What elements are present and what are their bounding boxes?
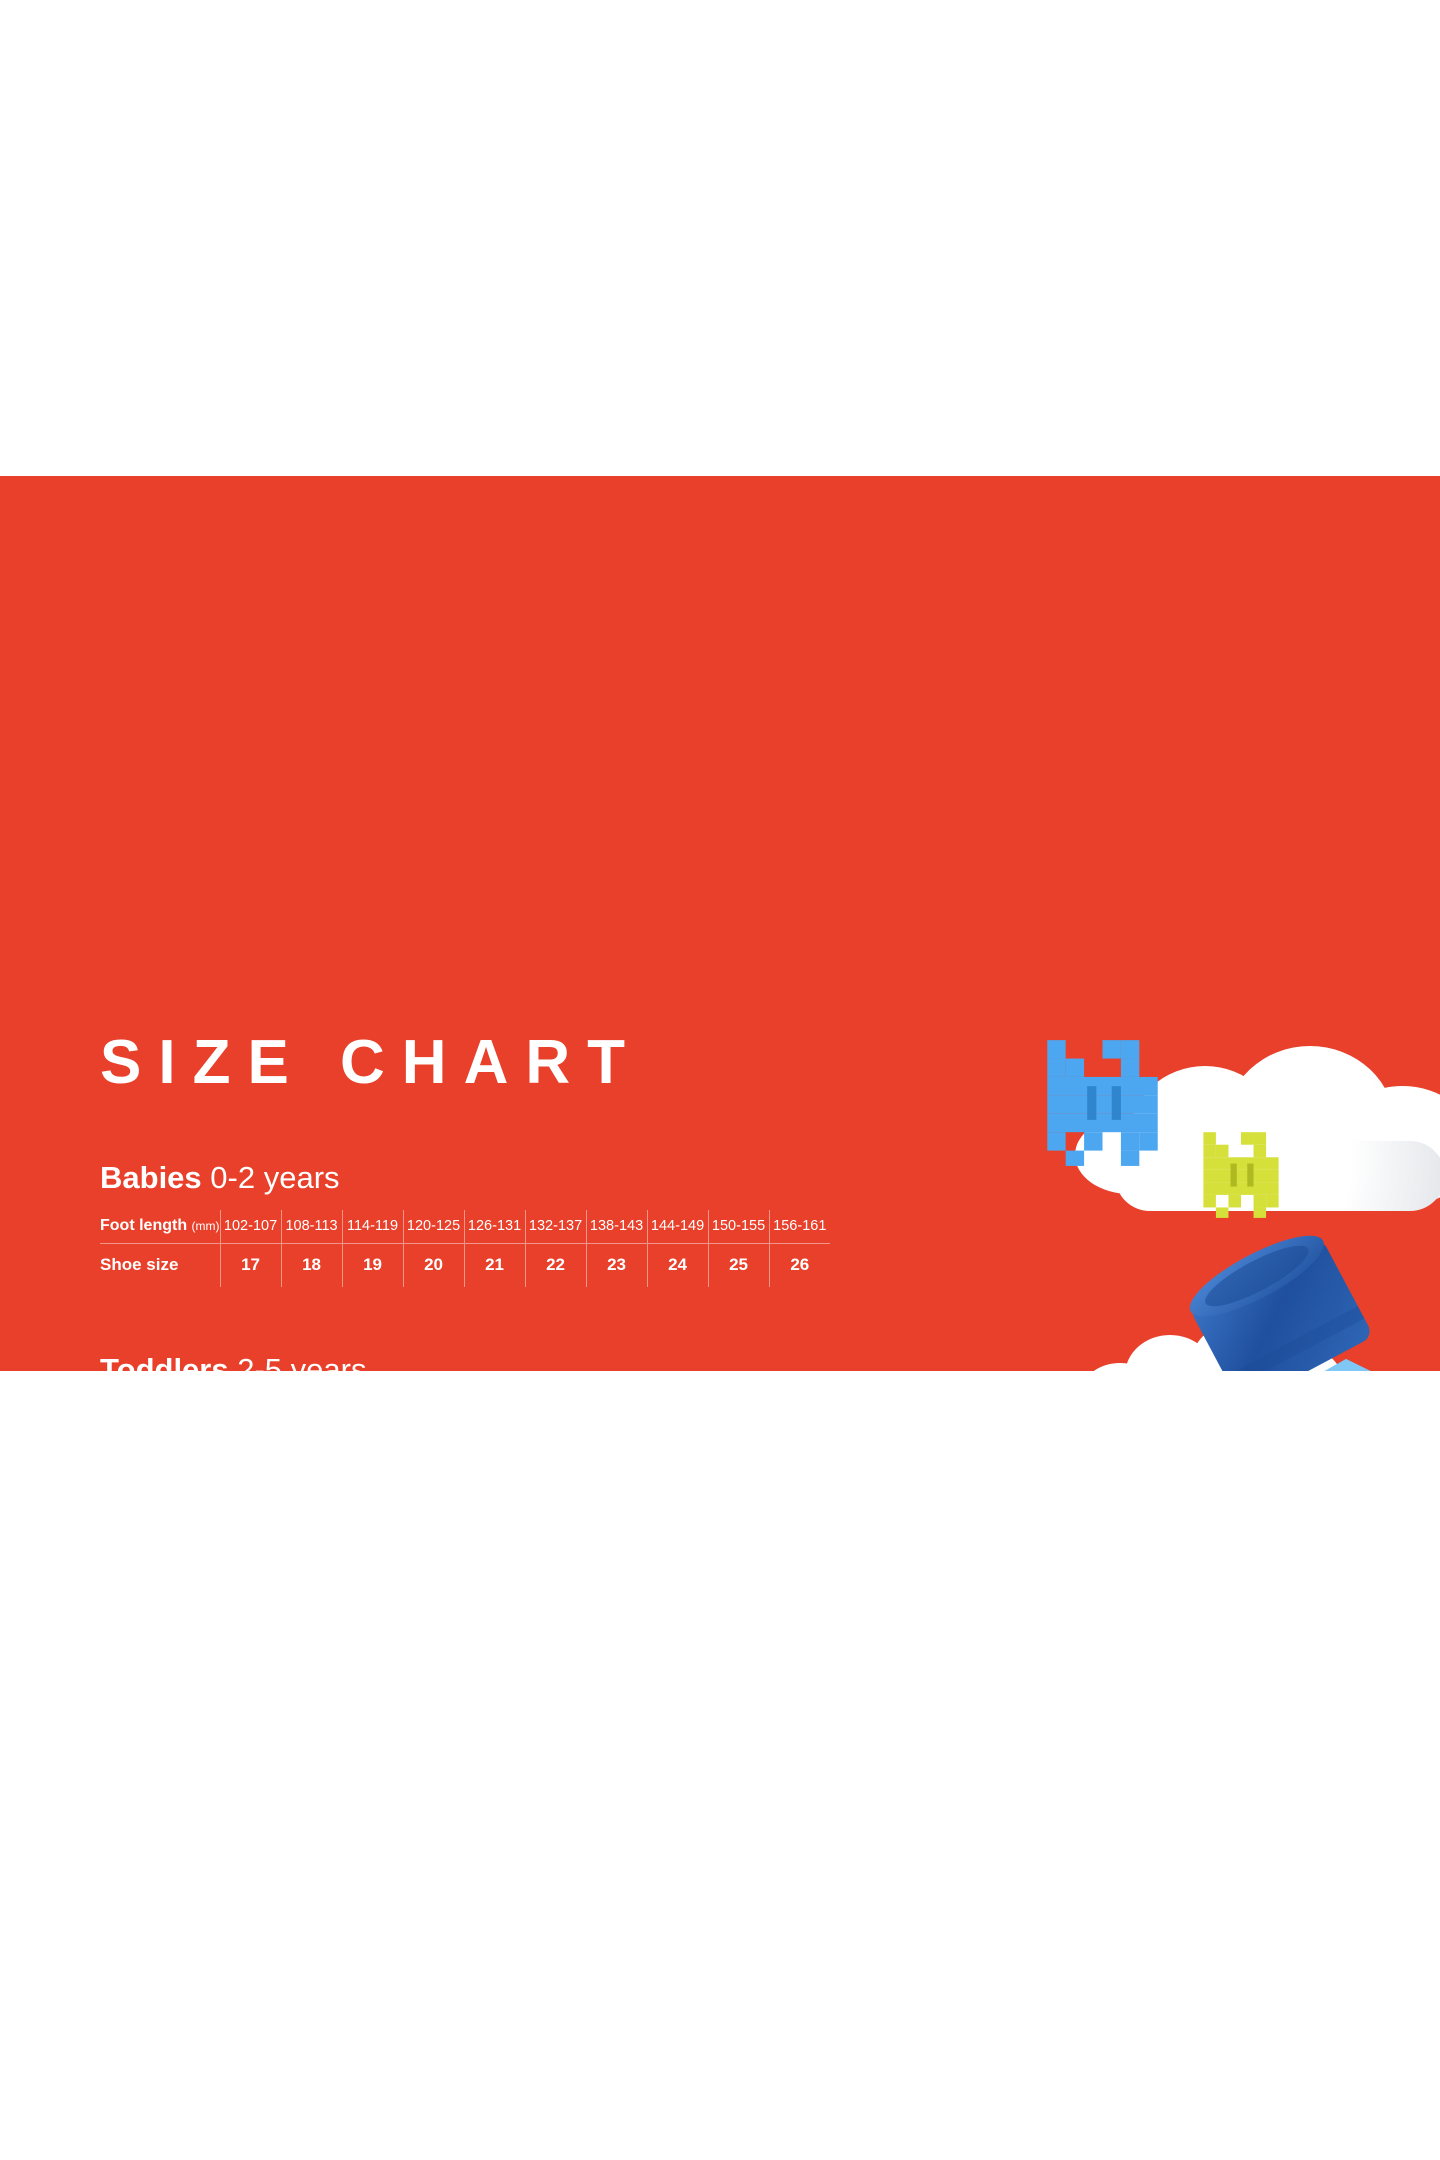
section-toddlers-age: 2-5 years [237,1352,366,1371]
cell-shoe-size: 25 [708,1244,769,1288]
cell-shoe-size: 26 [769,1244,830,1288]
cell-foot-length: 132-137 [525,1210,586,1244]
section-toddlers: Toddlers 2-5 years Foot length (mm) 162-… [100,1354,769,1371]
cell-foot-length: 102-107 [220,1210,281,1244]
section-babies-heading: Babies 0-2 years [100,1162,830,1193]
cell-shoe-size: 21 [464,1244,525,1288]
cell-shoe-size: 17 [220,1244,281,1288]
toy-block-svg [1150,1231,1440,1371]
section-toddlers-name: Toddlers [100,1352,229,1371]
section-babies: Babies 0-2 years Foot length (mm) 102-10… [100,1162,830,1287]
cell-foot-length: 156-161 [769,1210,830,1244]
cell-foot-length: 114-119 [342,1210,403,1244]
pixel-invader-yellow-svg [1195,1128,1287,1220]
toy-block-illustration [1150,1231,1440,1371]
cell-shoe-size: 20 [403,1244,464,1288]
cell-shoe-size: 23 [586,1244,647,1288]
pixel-invader-yellow-icon [1195,1128,1287,1220]
page-title: SIZE CHART [100,1032,642,1094]
row-label-foot-length: Foot length (mm) [100,1210,220,1244]
cloud-illustration-top [1075,1046,1440,1226]
cell-foot-length: 138-143 [586,1210,647,1244]
section-babies-age: 0-2 years [210,1160,339,1195]
pixel-invader-blue-svg [1035,1034,1170,1169]
pixel-invader-blue-icon [1035,1034,1170,1169]
table-row-foot-length: Foot length (mm) 102-107 108-113 114-119… [100,1210,830,1244]
table-row-shoe-size: Shoe size 17 18 19 20 21 22 23 24 25 26 [100,1244,830,1288]
cell-shoe-size: 19 [342,1244,403,1288]
section-toddlers-heading: Toddlers 2-5 years [100,1354,769,1371]
cell-foot-length: 126-131 [464,1210,525,1244]
cell-shoe-size: 18 [281,1244,342,1288]
cell-foot-length: 120-125 [403,1210,464,1244]
cell-foot-length: 108-113 [281,1210,342,1244]
size-chart-poster: SIZE CHART Babies 0-2 years Foot length … [0,476,1440,1371]
cell-foot-length: 150-155 [708,1210,769,1244]
section-babies-name: Babies [100,1160,202,1195]
row-label-shoe-size: Shoe size [100,1244,220,1288]
cloud-illustration-bottom [1085,1321,1345,1371]
cell-shoe-size: 24 [647,1244,708,1288]
cell-foot-length: 144-149 [647,1210,708,1244]
size-table-babies: Foot length (mm) 102-107 108-113 114-119… [100,1210,830,1287]
unit-mm: (mm) [192,1219,220,1233]
cell-shoe-size: 22 [525,1244,586,1288]
